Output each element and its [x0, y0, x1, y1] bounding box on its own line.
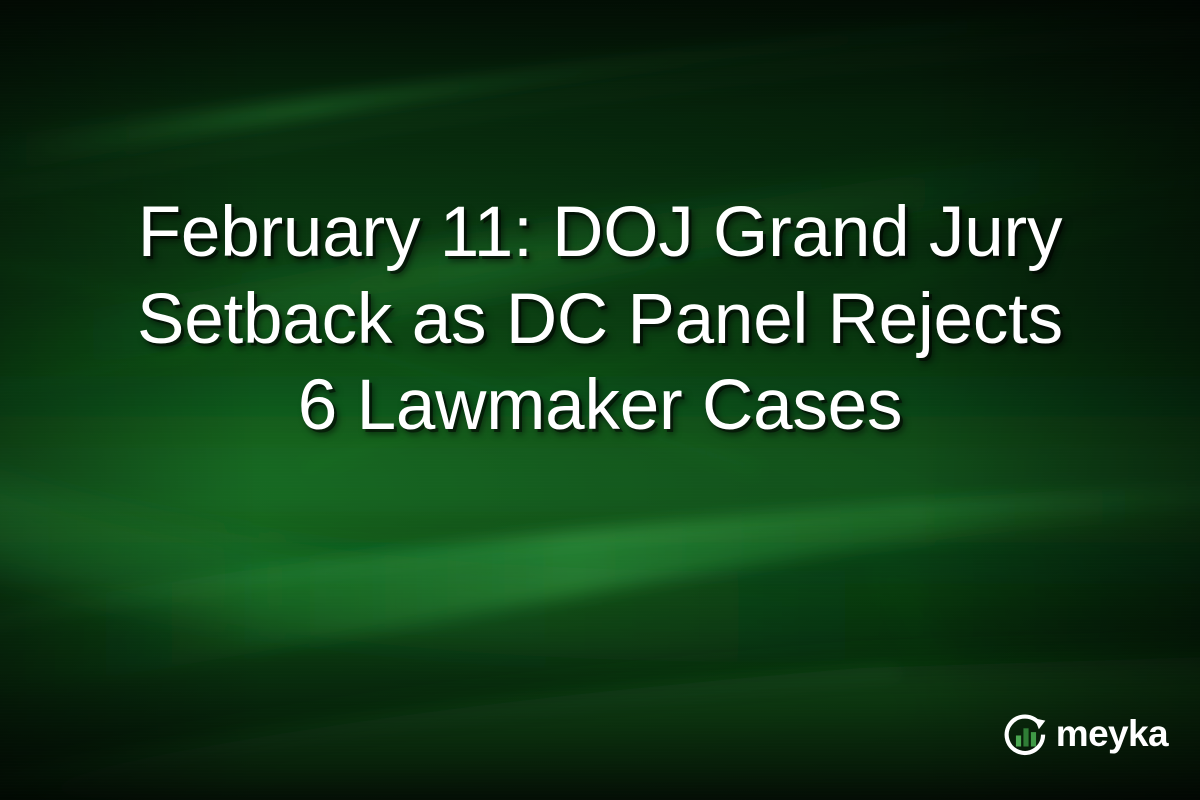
headline-card: February 11: DOJ Grand Jury Setback as D… — [0, 0, 1200, 800]
brand-lockup[interactable]: meyka — [1003, 712, 1168, 758]
arrow-head-icon — [1034, 718, 1045, 729]
bar-chart-icon — [1016, 728, 1036, 746]
brand-name: meyka — [1056, 715, 1168, 752]
headline-container: February 11: DOJ Grand Jury Setback as D… — [0, 0, 1200, 640]
headline-title: February 11: DOJ Grand Jury Setback as D… — [55, 190, 1145, 450]
meyka-logo-icon — [1003, 712, 1049, 758]
